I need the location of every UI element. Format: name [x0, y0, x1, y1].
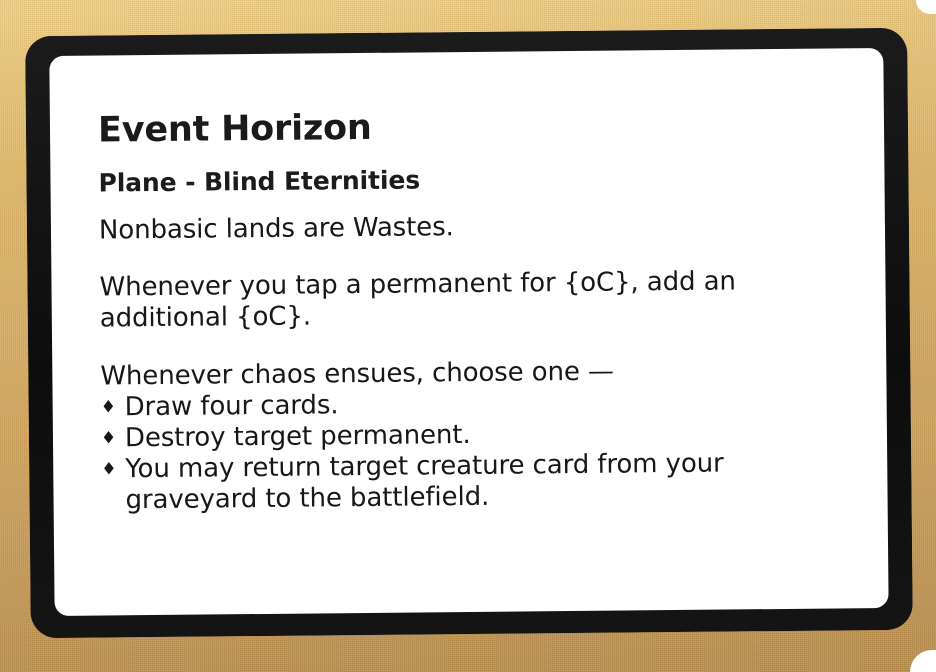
diamond-bullet-icon: ♦	[101, 455, 116, 486]
chaos-mode-item: ♦ You may return target creature card fr…	[101, 447, 858, 517]
card-rules-text: Nonbasic lands are Wastes. Whenever you …	[99, 208, 858, 517]
card-text-content: Event Horizon Plane - Blind Eternities N…	[98, 106, 858, 517]
rules-static-ability: Nonbasic lands are Wastes.	[99, 208, 855, 246]
chaos-mode-label: Draw four cards.	[125, 390, 339, 422]
card-text-panel: Event Horizon Plane - Blind Eternities N…	[49, 48, 888, 616]
card-type-line: Plane - Blind Eternities	[98, 163, 854, 195]
card-black-frame: Event Horizon Plane - Blind Eternities N…	[25, 28, 913, 638]
rules-triggered-ability: Whenever you tap a permanent for {oC}, a…	[99, 265, 856, 335]
diamond-bullet-icon: ♦	[101, 423, 116, 454]
chaos-mode-label: Destroy target permanent.	[125, 420, 471, 453]
chaos-mode-label: You may return target creature card from…	[125, 449, 724, 516]
screenshot-stage: Event Horizon Plane - Blind Eternities N…	[0, 0, 936, 672]
chaos-mode-list: ♦ Draw four cards. ♦ Destroy target perm…	[101, 385, 858, 517]
diamond-bullet-icon: ♦	[101, 392, 116, 423]
planechase-card: Event Horizon Plane - Blind Eternities N…	[0, 0, 936, 672]
card-title: Event Horizon	[98, 106, 854, 148]
